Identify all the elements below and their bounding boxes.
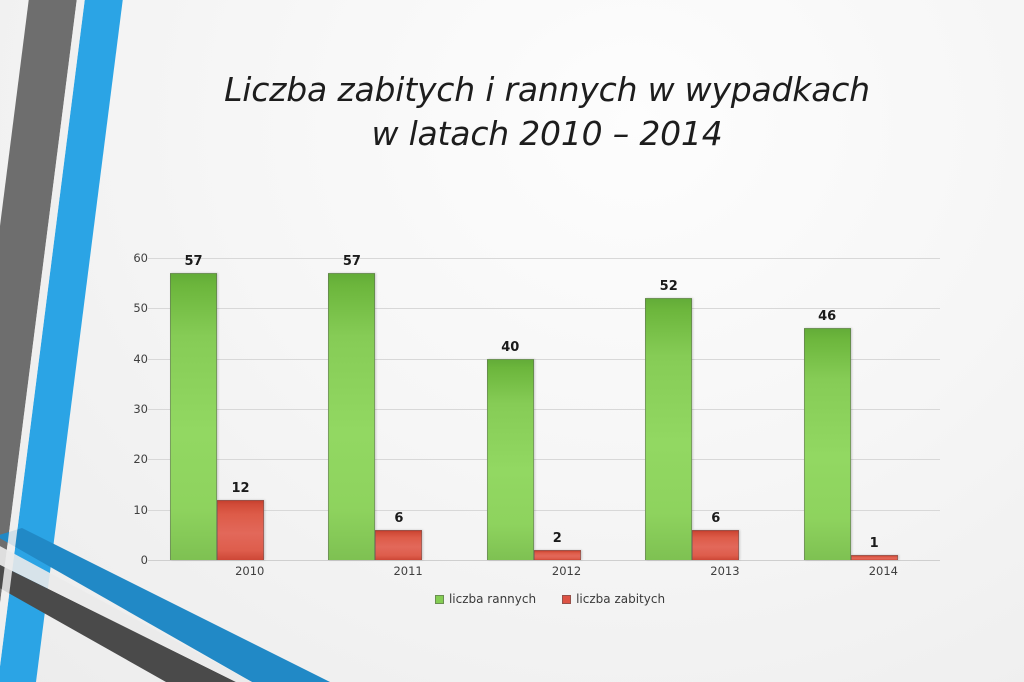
y-axis-tick-label: 20 [133,452,148,466]
y-axis-tick-label: 0 [141,553,148,567]
legend-swatch-icon [562,595,571,604]
slide-canvas: Liczba zabitych i rannych w wypadkach w … [0,0,1024,682]
y-axis-tick-label: 10 [133,503,148,517]
legend-item-rannych[interactable]: liczba rannych [435,592,536,606]
chart-legend: liczba rannychliczba zabitych [148,592,940,606]
bar-value-label: 1 [870,536,879,551]
title-line-1: Liczba zabitych i rannych w wypadkach [70,68,1024,112]
bar-2010-rannych[interactable]: 57 [170,273,217,560]
bar-group: 576 [306,258,464,560]
x-axis-tick-label: 2014 [782,564,940,578]
bar-2014-zabitych[interactable]: 1 [851,555,898,560]
legend-item-zabitych[interactable]: liczba zabitych [562,592,665,606]
bar-2010-zabitych[interactable]: 12 [217,500,264,560]
bar-2014-rannych[interactable]: 46 [804,328,851,560]
bar-group: 402 [465,258,623,560]
plot-area-wrapper: 0102030405060 5712576402526461 [108,258,958,568]
bar-2013-rannych[interactable]: 52 [645,298,692,560]
y-axis-tick-label: 60 [133,251,148,265]
bar-2011-zabitych[interactable]: 6 [375,530,422,560]
bar-2011-rannych[interactable]: 57 [328,273,375,560]
bar-2013-zabitych[interactable]: 6 [692,530,739,560]
bar-groups: 5712576402526461 [148,258,940,560]
bar-value-label: 6 [394,511,403,526]
legend-swatch-icon [435,595,444,604]
gridline [148,560,940,561]
bar-value-label: 52 [660,279,678,294]
bar-group: 5712 [148,258,306,560]
bar-2012-zabitych[interactable]: 2 [534,550,581,560]
plot-area: 5712576402526461 [148,258,940,560]
x-axis-tick-label: 2011 [306,564,464,578]
bar-chart: 0102030405060 5712576402526461 201020112… [108,258,958,618]
bar-value-label: 57 [184,254,202,269]
legend-label: liczba rannych [449,592,536,606]
x-axis: 20102011201220132014 [148,564,940,578]
y-axis: 0102030405060 [108,258,148,560]
bar-value-label: 40 [501,340,519,355]
title-line-2: w latach 2010 – 2014 [70,112,1024,156]
bar-value-label: 12 [231,481,249,496]
y-axis-tick-label: 30 [133,402,148,416]
bar-value-label: 57 [343,254,361,269]
bar-value-label: 46 [818,309,836,324]
bar-group: 461 [782,258,940,560]
y-axis-tick-label: 40 [133,352,148,366]
bar-value-label: 6 [711,511,720,526]
x-axis-tick-label: 2010 [148,564,306,578]
page-title: Liczba zabitych i rannych w wypadkach w … [0,68,1024,156]
legend-label: liczba zabitych [576,592,665,606]
y-axis-tick-label: 50 [133,301,148,315]
x-axis-tick-label: 2013 [623,564,781,578]
x-axis-tick-label: 2012 [465,564,623,578]
bar-2012-rannych[interactable]: 40 [487,359,534,560]
bar-group: 526 [623,258,781,560]
bar-value-label: 2 [553,531,562,546]
